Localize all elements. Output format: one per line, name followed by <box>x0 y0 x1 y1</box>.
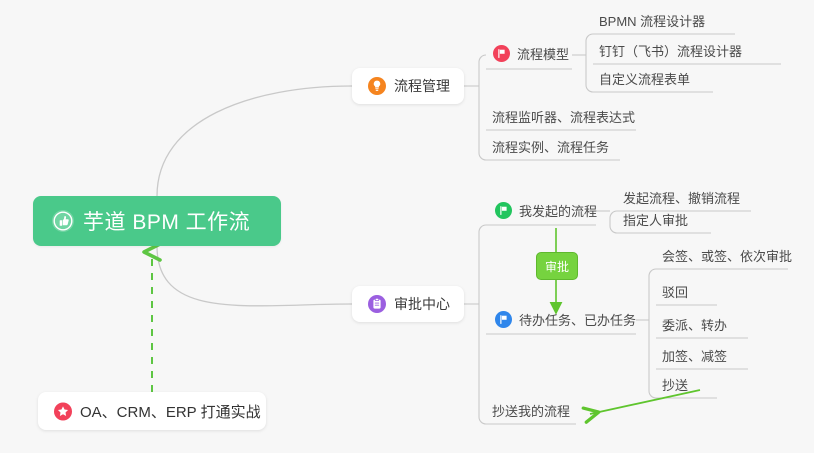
leaf-cc-label: 抄送 <box>662 375 688 394</box>
leaf-start-cancel-flow-label: 发起流程、撤销流程 <box>623 188 740 207</box>
leaf-custom-flow-form-label: 自定义流程表单 <box>599 69 690 88</box>
process-box-approval-label: 审批 <box>545 258 569 275</box>
leaf-assignee-approval[interactable]: 指定人审批 <box>623 210 688 233</box>
node-oa-crm-erp[interactable]: OA、CRM、ERP 打通实战 <box>38 392 266 430</box>
root-node[interactable]: 芋道 BPM 工作流 <box>33 196 281 246</box>
node-approval-center[interactable]: 审批中心 <box>352 286 464 322</box>
star-icon <box>54 402 72 420</box>
leaf-start-cancel-flow[interactable]: 发起流程、撤销流程 <box>623 188 740 211</box>
node-flow-model-label: 流程模型 <box>517 44 569 63</box>
connector-flow-model-bracket <box>586 34 593 92</box>
leaf-cc-to-me-flows[interactable]: 抄送我的流程 <box>492 401 570 424</box>
connector-root-to-approval-center <box>157 246 352 306</box>
leaf-assignee-approval-label: 指定人审批 <box>623 210 688 229</box>
node-todo-done-tasks-label: 待办任务、已办任务 <box>519 310 636 329</box>
leaf-add-remove-sign[interactable]: 加签、减签 <box>662 346 727 369</box>
leaf-flow-instance-task[interactable]: 流程实例、流程任务 <box>492 137 609 160</box>
connector-approval-center-bracket <box>479 225 486 424</box>
connector-flow-management-bracket <box>479 55 486 160</box>
thumbs-up-icon <box>52 210 74 232</box>
leaf-reject-label: 驳回 <box>662 282 688 301</box>
leaf-bpmn-designer[interactable]: BPMN 流程设计器 <box>599 11 705 34</box>
node-my-started-flows-label: 我发起的流程 <box>519 201 597 220</box>
root-label: 芋道 BPM 工作流 <box>83 206 250 236</box>
leaf-add-remove-sign-label: 加签、减签 <box>662 346 727 365</box>
node-approval-center-label: 审批中心 <box>394 294 450 314</box>
flag-icon-green <box>494 202 512 220</box>
leaf-custom-flow-form[interactable]: 自定义流程表单 <box>599 69 690 92</box>
leaf-dingtalk-feishu-designer-label: 钉钉（飞书）流程设计器 <box>599 41 742 60</box>
leaf-flow-listener-expression-label: 流程监听器、流程表达式 <box>492 107 635 126</box>
leaf-countersign-or-sequential-label: 会签、或签、依次审批 <box>662 246 792 265</box>
node-flow-model[interactable]: 流程模型 <box>492 44 569 67</box>
node-flow-management[interactable]: 流程管理 <box>352 68 464 104</box>
mindmap-canvas: 芋道 BPM 工作流 流程管理 审批中心 <box>0 0 814 453</box>
clipboard-icon <box>368 295 386 313</box>
leaf-flow-listener-expression[interactable]: 流程监听器、流程表达式 <box>492 107 635 130</box>
connector-root-to-flow-management <box>157 86 352 196</box>
leaf-delegate-transfer-label: 委派、转办 <box>662 315 727 334</box>
node-flow-management-label: 流程管理 <box>394 76 450 96</box>
connector-todo-bracket <box>649 269 656 398</box>
leaf-cc[interactable]: 抄送 <box>662 375 688 398</box>
leaf-cc-to-me-flows-label: 抄送我的流程 <box>492 401 570 420</box>
flag-icon-blue <box>494 311 512 329</box>
leaf-countersign-or-sequential[interactable]: 会签、或签、依次审批 <box>662 246 792 269</box>
process-box-approval[interactable]: 审批 <box>536 252 578 280</box>
leaf-reject[interactable]: 驳回 <box>662 282 688 305</box>
node-oa-crm-erp-label: OA、CRM、ERP 打通实战 <box>80 401 261 422</box>
leaf-flow-instance-task-label: 流程实例、流程任务 <box>492 137 609 156</box>
leaf-delegate-transfer[interactable]: 委派、转办 <box>662 315 727 338</box>
leaf-bpmn-designer-label: BPMN 流程设计器 <box>599 11 705 30</box>
lightbulb-icon <box>368 77 386 95</box>
flag-icon-red <box>492 45 510 63</box>
leaf-dingtalk-feishu-designer[interactable]: 钉钉（飞书）流程设计器 <box>599 41 742 64</box>
node-todo-done-tasks[interactable]: 待办任务、已办任务 <box>494 310 636 333</box>
connector-my-started-bracket <box>610 211 617 233</box>
node-my-started-flows[interactable]: 我发起的流程 <box>494 201 597 224</box>
